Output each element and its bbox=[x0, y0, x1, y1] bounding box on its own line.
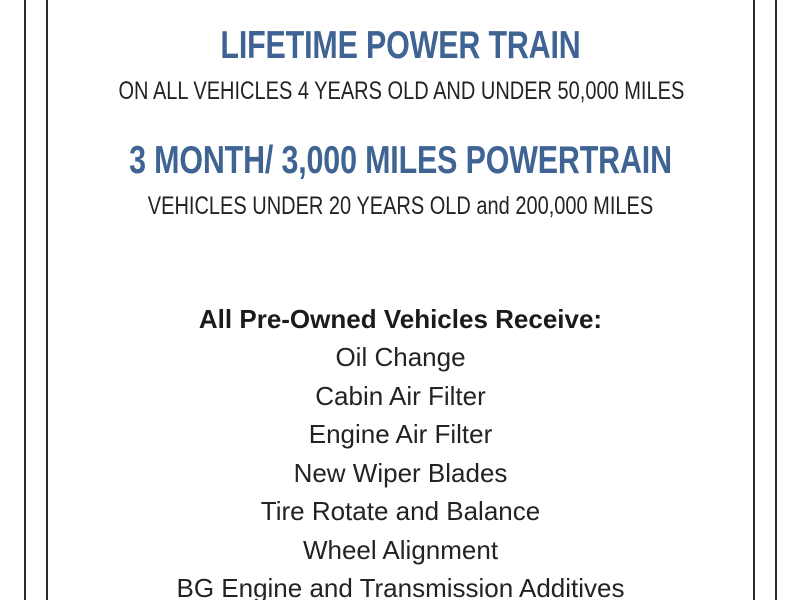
lifetime-powertrain-title: LIFETIME POWER TRAIN bbox=[126, 26, 676, 65]
right-outer-border-rule bbox=[775, 0, 777, 600]
warranty-block-3month-powertrain: 3 MONTH/ 3,000 MILES POWERTRAIN VEHICLES… bbox=[48, 141, 753, 219]
service-item: Oil Change bbox=[48, 338, 753, 377]
service-item: Tire Rotate and Balance bbox=[48, 492, 753, 531]
service-item: Cabin Air Filter bbox=[48, 377, 753, 416]
3month-powertrain-subtitle: VEHICLES UNDER 20 YEARS OLD and 200,000 … bbox=[119, 194, 683, 219]
services-section: All Pre-Owned Vehicles Receive: Oil Chan… bbox=[48, 300, 753, 600]
flyer-page: LIFETIME POWER TRAIN ON ALL VEHICLES 4 Y… bbox=[0, 0, 800, 600]
warranty-block-lifetime-powertrain: LIFETIME POWER TRAIN ON ALL VEHICLES 4 Y… bbox=[48, 26, 753, 104]
services-heading: All Pre-Owned Vehicles Receive: bbox=[48, 300, 753, 338]
right-inner-border-rule bbox=[753, 0, 755, 600]
service-item: New Wiper Blades bbox=[48, 454, 753, 493]
3month-powertrain-title: 3 MONTH/ 3,000 MILES POWERTRAIN bbox=[126, 141, 676, 180]
flyer-content: LIFETIME POWER TRAIN ON ALL VEHICLES 4 Y… bbox=[48, 0, 753, 600]
lifetime-powertrain-subtitle: ON ALL VEHICLES 4 YEARS OLD AND UNDER 50… bbox=[119, 79, 683, 104]
service-item: Wheel Alignment bbox=[48, 531, 753, 570]
left-outer-border-rule bbox=[24, 0, 26, 600]
service-item: BG Engine and Transmission Additives bbox=[48, 569, 753, 600]
service-item: Engine Air Filter bbox=[48, 415, 753, 454]
